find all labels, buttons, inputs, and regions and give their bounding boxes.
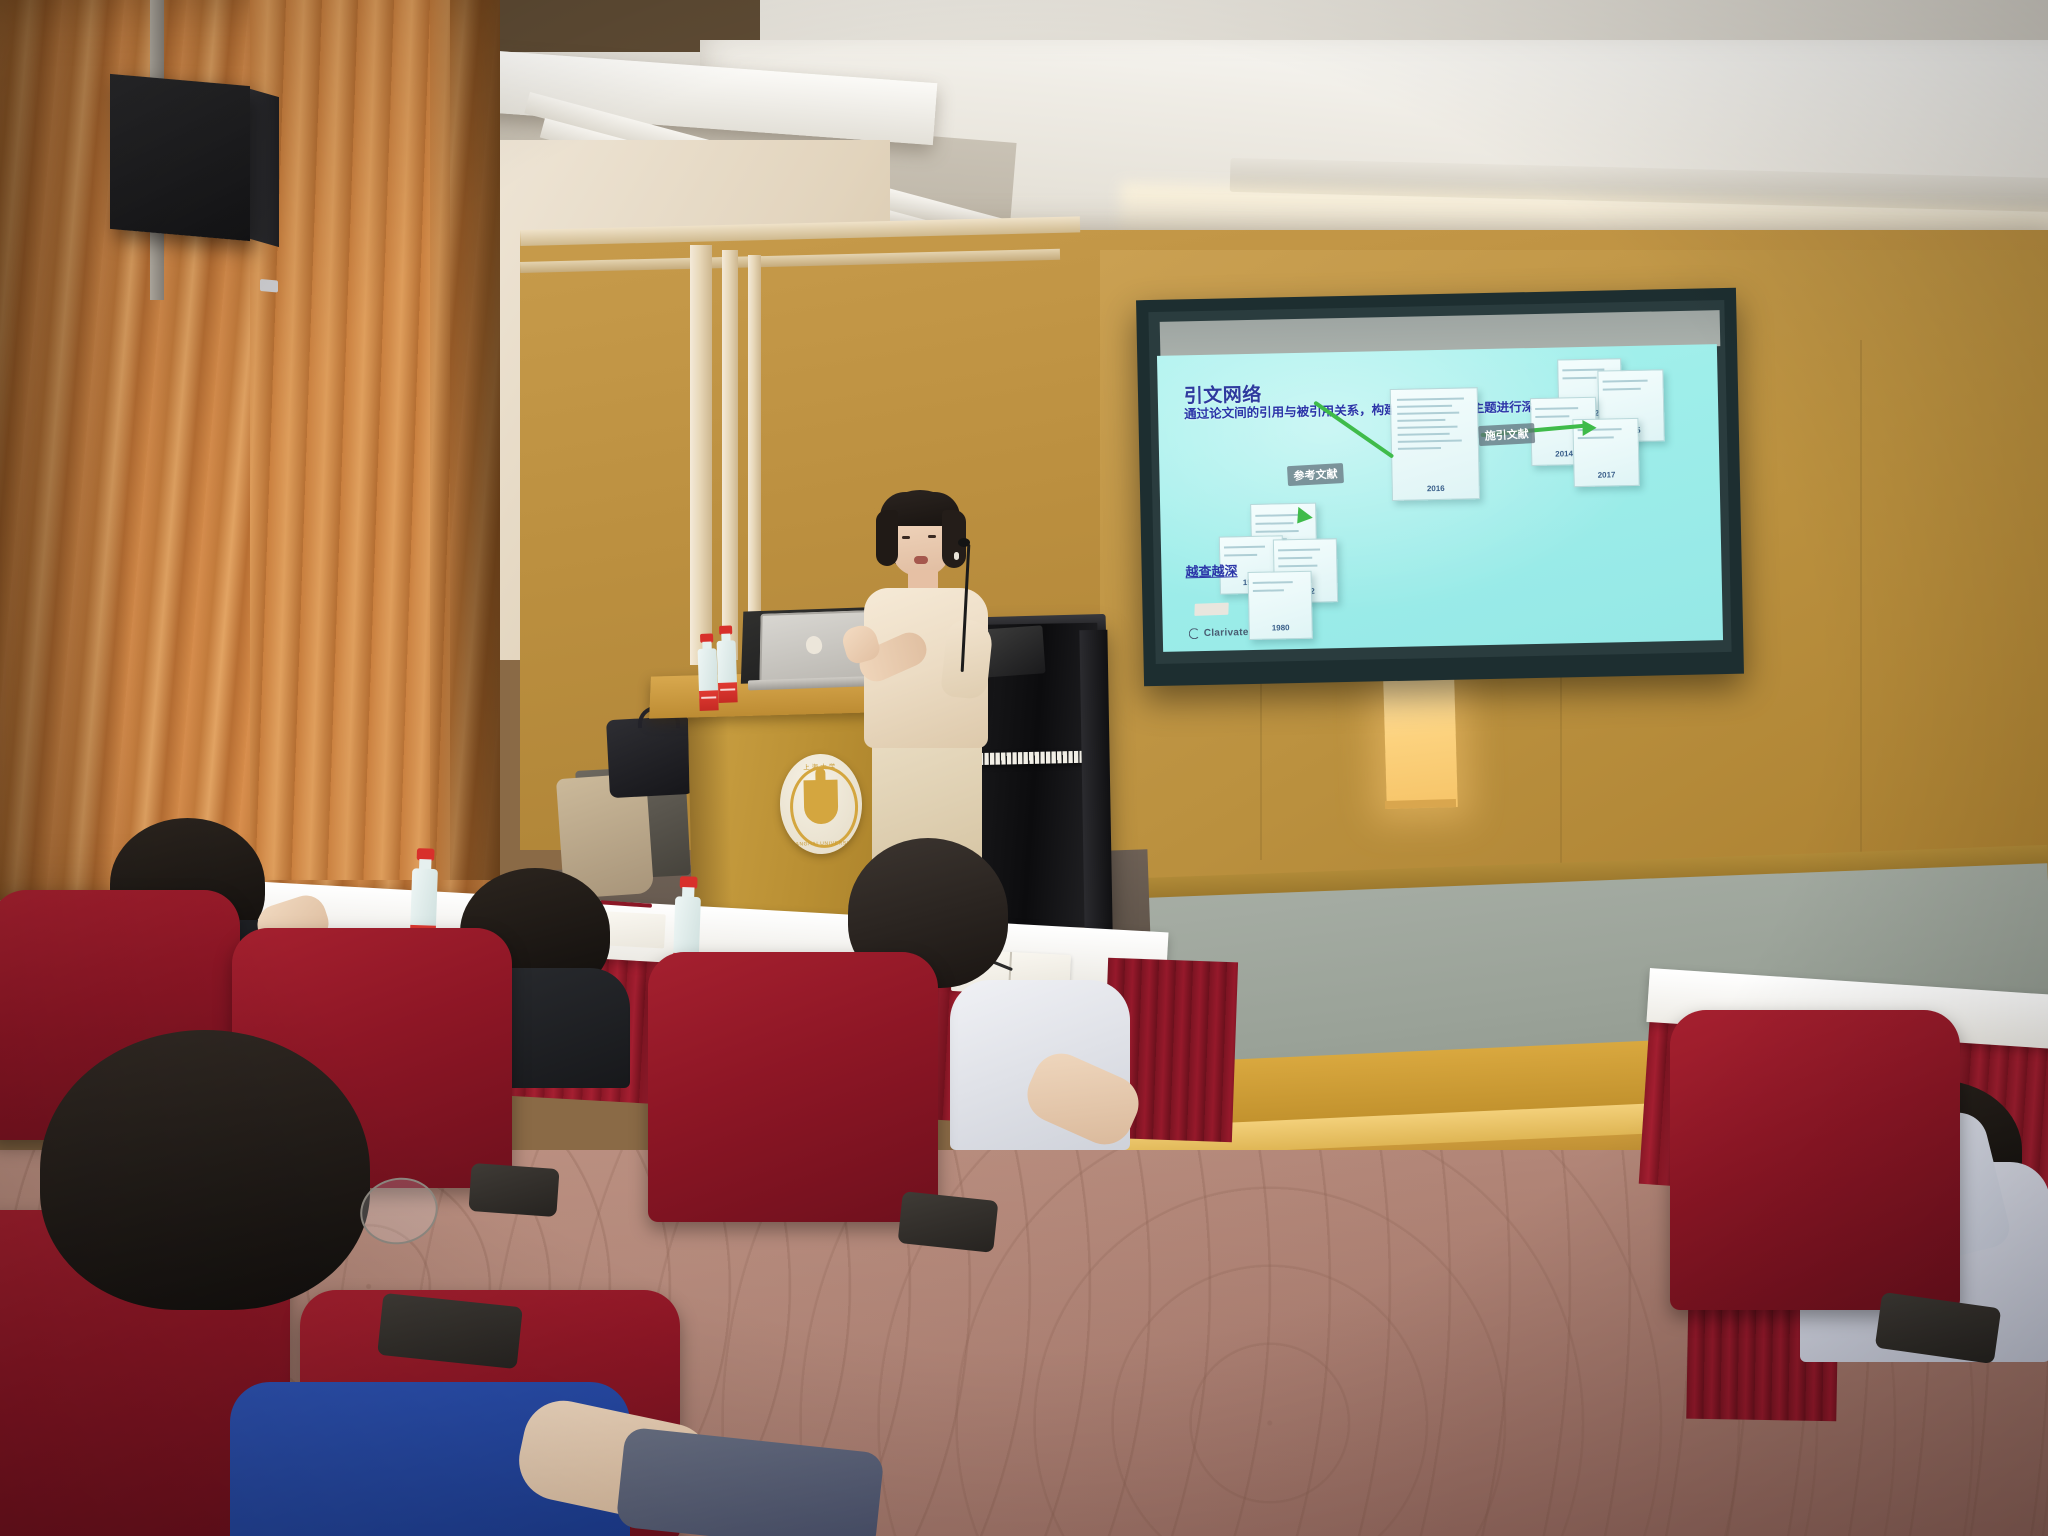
wall-light-panel: [1383, 677, 1458, 809]
presenter-mouth: [914, 556, 928, 564]
document-card-center: 2016: [1390, 387, 1480, 501]
backpack: [606, 716, 694, 798]
deeper-search-label: 越查越深: [1185, 560, 1237, 580]
audience-head: [40, 1030, 370, 1310]
document-card: 1980: [1248, 571, 1313, 640]
piano-side-panel: [1079, 630, 1112, 930]
earring: [954, 552, 959, 560]
lecture-hall-scene: 引文网络 通过论文间的引用与被引用关系，构建引文网络，对主题进行深入挖掘 200…: [0, 0, 2048, 1536]
loudspeaker-badge: [260, 279, 278, 293]
wall-seam-3: [1860, 340, 1862, 900]
presenter-eye-left: [902, 536, 910, 539]
document-year: 2014: [1555, 449, 1573, 458]
stage-curtain-left-fold: [250, 0, 450, 880]
wall-pilaster-2: [722, 250, 738, 660]
wall-pilaster-3: [748, 255, 761, 655]
emblem-tulip-mark: [804, 780, 839, 825]
clarivate-wordmark: Clarivate: [1204, 627, 1249, 639]
reference-arrow-label: 参考文献: [1287, 463, 1344, 486]
document-year: 1980: [1272, 623, 1290, 632]
seat-armrest: [898, 1191, 999, 1253]
microphone-icon: [958, 538, 970, 547]
auditorium-seat: [1670, 1010, 1960, 1310]
presentation-slide[interactable]: 引文网络 通过论文间的引用与被引用关系，构建引文网络，对主题进行深入挖掘 200…: [1157, 344, 1723, 652]
wall-pilaster-1: [690, 245, 712, 665]
presenter-hair-left: [876, 510, 898, 566]
clarivate-logo-icon: [1189, 628, 1200, 639]
auditorium-seat: [648, 952, 938, 1222]
presenter-eye-right: [928, 535, 936, 538]
citing-arrow-label: 施引文献: [1478, 423, 1535, 446]
monitor-label-tag: [1194, 603, 1228, 616]
curtain-edge: [430, 0, 500, 880]
document-year: 2016: [1427, 484, 1445, 493]
presenter: [836, 490, 1006, 870]
loudspeaker-icon: [110, 74, 250, 241]
seat-armrest: [468, 1163, 559, 1217]
clarivate-brand: Clarivate: [1189, 627, 1249, 639]
presenter-sleeve: [940, 618, 994, 700]
document-year: 2017: [1598, 470, 1616, 479]
citing-arrowhead-icon: [1582, 420, 1596, 436]
